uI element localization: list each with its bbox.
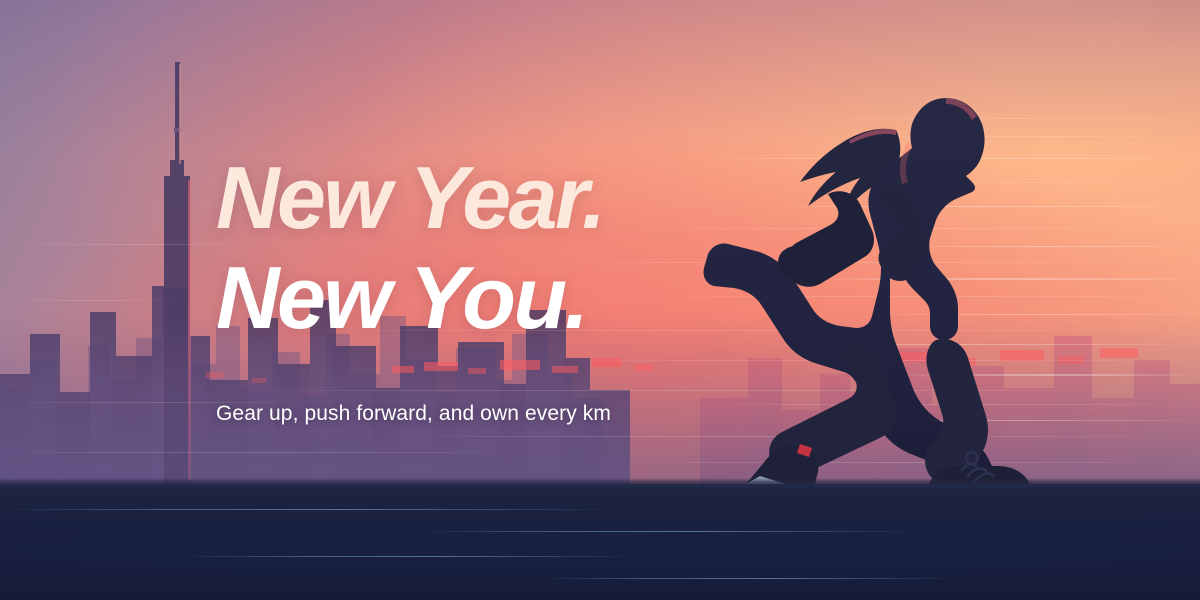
banner-copy: New Year. New You. Gear up, push forward… bbox=[216, 148, 856, 426]
hero-banner: New Year. New You. Gear up, push forward… bbox=[0, 0, 1200, 600]
ground-speed-streak bbox=[420, 531, 920, 532]
tagline: Gear up, push forward, and own every km bbox=[216, 348, 856, 426]
headline-line-1: New Year. bbox=[216, 148, 856, 248]
ground-speed-streak bbox=[540, 578, 960, 579]
ground-speed-streak bbox=[180, 556, 640, 557]
headline-line-2: New You. bbox=[216, 248, 856, 348]
ground-speed-streak bbox=[0, 509, 620, 510]
